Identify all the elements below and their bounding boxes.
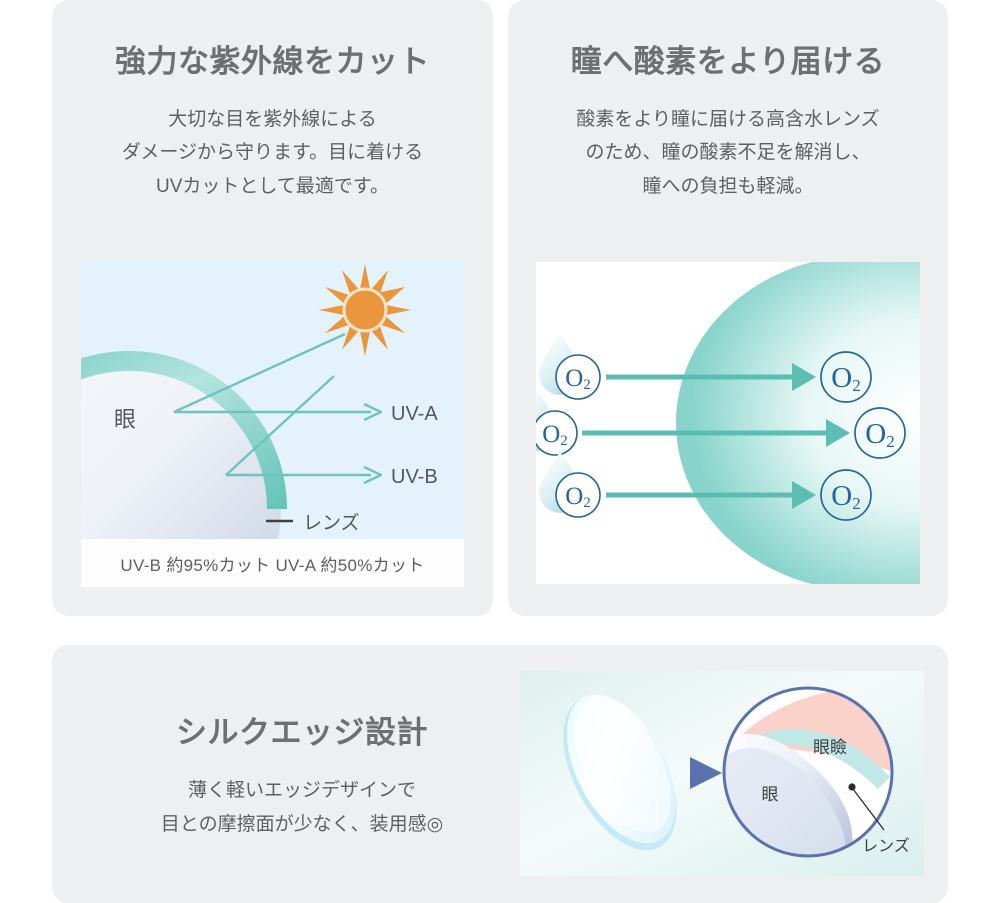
sun-icon (319, 264, 411, 356)
uv-b-label: UV-B (391, 466, 438, 488)
card-title-uv: 強力な紫外線をカット (52, 0, 493, 81)
feature-card-oxygen: 瞳へ酸素をより届ける 酸素をより瞳に届ける高含水レンズ のため、瞳の酸素不足を解… (508, 0, 948, 616)
lens-callout-dot (848, 783, 855, 790)
card-description-line: 薄く軽いエッジデザインで (161, 774, 443, 807)
silk-edge-diagram: 眼瞼 眼 レンズ (512, 665, 932, 883)
card-description-silk-edge: 薄く軽いエッジデザインで 目との摩擦面が少なく、装用感◎ (161, 774, 443, 841)
feature-card-silk-edge: シルクエッジ設計 薄く軽いエッジデザインで 目との摩擦面が少なく、装用感◎ (52, 645, 948, 903)
oxygen-droplet-group: O2 O2 O2 (536, 334, 600, 517)
uv-cut-caption: UV-B 約95%カット UV-A 約50%カット (81, 539, 464, 587)
card-title-silk-edge: シルクエッジ設計 (176, 707, 428, 752)
eye-label: 眼 (762, 785, 779, 804)
uv-a-label: UV-A (391, 403, 438, 425)
card-description-line: 目との摩擦面が少なく、装用感◎ (161, 808, 443, 841)
card-title-oxygen: 瞳へ酸素をより届ける (508, 0, 948, 81)
silk-edge-svg: 眼瞼 眼 レンズ (512, 665, 932, 883)
card-description-line: ダメージから守ります。目に着ける (52, 136, 493, 169)
card-description-line: 酸素をより瞳に届ける高含水レンズ (508, 103, 948, 136)
feature-card-grid: 強力な紫外線をカット 大切な目を紫外線による ダメージから守ります。目に着ける … (52, 0, 948, 903)
feature-card-uv-protection: 強力な紫外線をカット 大切な目を紫外線による ダメージから守ります。目に着ける … (52, 0, 493, 616)
silk-edge-text-block: シルクエッジ設計 薄く軽いエッジデザインで 目との摩擦面が少なく、装用感◎ (82, 645, 522, 903)
card-description-line: 瞳への負担も軽減。 (508, 170, 948, 203)
card-description-line: UVカットとして最適です。 (52, 170, 493, 203)
lens-label: レンズ (862, 837, 910, 855)
uv-cut-diagram: UV-A UV-B 眼 レンズ UV-B 約95%カット UV-A 約50%カッ… (81, 259, 464, 587)
card-description-uv: 大切な目を紫外線による ダメージから守ります。目に着ける UVカットとして最適で… (52, 81, 493, 203)
oxygen-transfer-diagram: O2 O2 O2 (536, 262, 920, 584)
card-description-oxygen: 酸素をより瞳に届ける高含水レンズ のため、瞳の酸素不足を解消し、 瞳への負担も軽… (508, 81, 948, 203)
oxygen-diagram-svg: O2 O2 O2 (536, 262, 920, 584)
card-description-line: のため、瞳の酸素不足を解消し、 (508, 136, 948, 169)
eye-label: 眼 (114, 407, 136, 432)
lens-legend-label: レンズ (303, 512, 360, 534)
eyelid-label: 眼瞼 (813, 737, 847, 757)
card-description-line: 大切な目を紫外線による (52, 103, 493, 136)
uv-diagram-svg: UV-A UV-B 眼 レンズ (81, 259, 464, 587)
